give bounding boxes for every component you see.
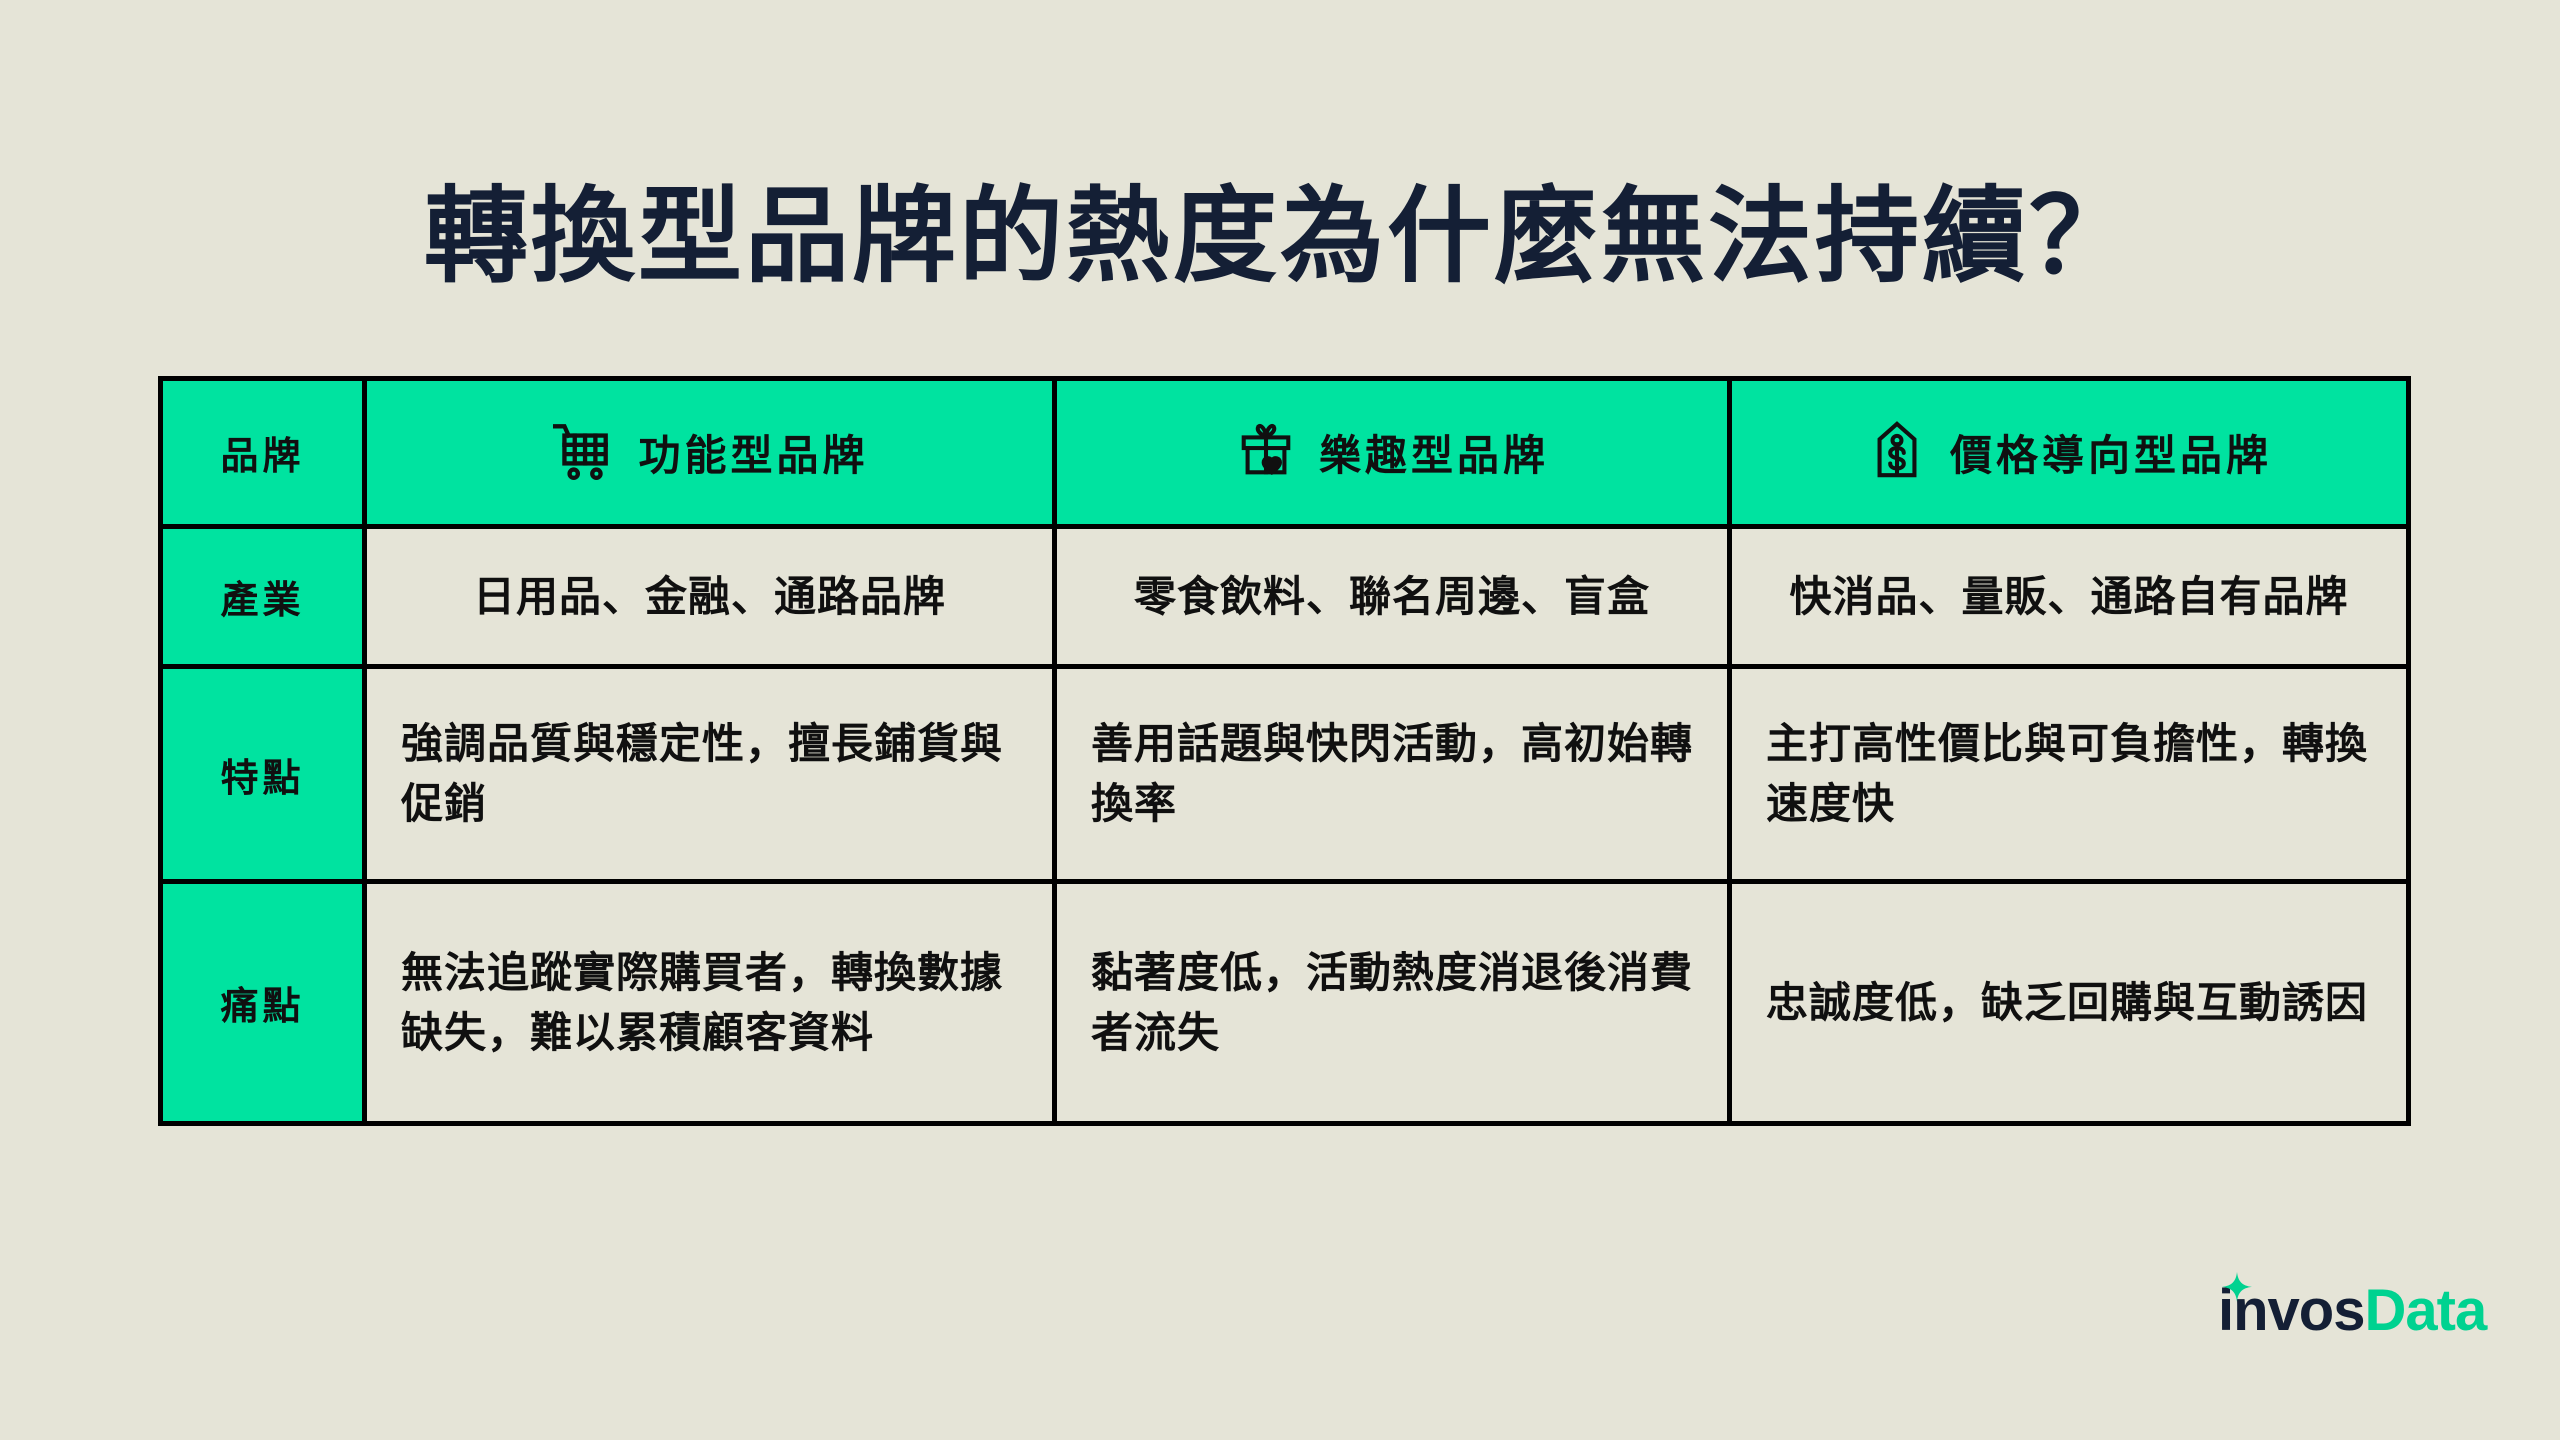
shopping-cart-icon xyxy=(550,417,616,488)
sparkle-icon xyxy=(2220,1272,2254,1311)
table-row: 特點 強調品質與穩定性，擅長鋪貨與促銷 善用話題與快閃活動，高初始轉換率 主打高… xyxy=(161,667,2409,882)
invosdata-logo: invos Data xyxy=(2218,1278,2486,1340)
cell-industry-fun: 零食飲料、聯名周邊、盲盒 xyxy=(1055,527,1730,667)
logo-text-data: Data xyxy=(2365,1282,2487,1340)
cell-pain-functional: 無法追蹤實際購買者，轉換數據缺失，難以累積顧客資料 xyxy=(365,882,1055,1124)
cell-industry-functional: 日用品、金融、通路品牌 xyxy=(365,527,1055,667)
table-header-row: 品牌 xyxy=(161,379,2409,527)
column-header-label: 功能型品牌 xyxy=(638,422,868,483)
cell-feature-price: 主打高性價比與可負擔性，轉換速度快 xyxy=(1730,667,2409,882)
brand-comparison-table: 品牌 xyxy=(158,376,2411,1126)
row-label-industry: 產業 xyxy=(161,527,365,667)
column-header-fun: 樂趣型品牌 xyxy=(1055,379,1730,527)
cell-pain-fun: 黏著度低，活動熱度消退後消費者流失 xyxy=(1055,882,1730,1124)
cell-feature-functional: 強調品質與穩定性，擅長鋪貨與促銷 xyxy=(365,667,1055,882)
table-row: 產業 日用品、金融、通路品牌 零食飲料、聯名周邊、盲盒 快消品、量販、通路自有品… xyxy=(161,527,2409,667)
cell-pain-price: 忠誠度低，缺乏回購與互動誘因 xyxy=(1730,882,2409,1124)
table-corner-label: 品牌 xyxy=(161,379,365,527)
column-header-functional: 功能型品牌 xyxy=(365,379,1055,527)
row-label-feature: 特點 xyxy=(161,667,365,882)
column-header-label: 價格導向型品牌 xyxy=(1950,422,2272,483)
page-title: 轉換型品牌的熱度為什麼無法持續？ xyxy=(0,178,2560,298)
row-label-pain: 痛點 xyxy=(161,882,365,1124)
price-tag-dollar-icon xyxy=(1866,419,1928,486)
column-header-price: 價格導向型品牌 xyxy=(1730,379,2409,527)
table-row: 痛點 無法追蹤實際購買者，轉換數據缺失，難以累積顧客資料 黏著度低，活動熱度消退… xyxy=(161,882,2409,1124)
gift-heart-icon xyxy=(1235,419,1297,486)
cell-feature-fun: 善用話題與快閃活動，高初始轉換率 xyxy=(1055,667,1730,882)
cell-industry-price: 快消品、量販、通路自有品牌 xyxy=(1730,527,2409,667)
column-header-label: 樂趣型品牌 xyxy=(1319,422,1549,483)
